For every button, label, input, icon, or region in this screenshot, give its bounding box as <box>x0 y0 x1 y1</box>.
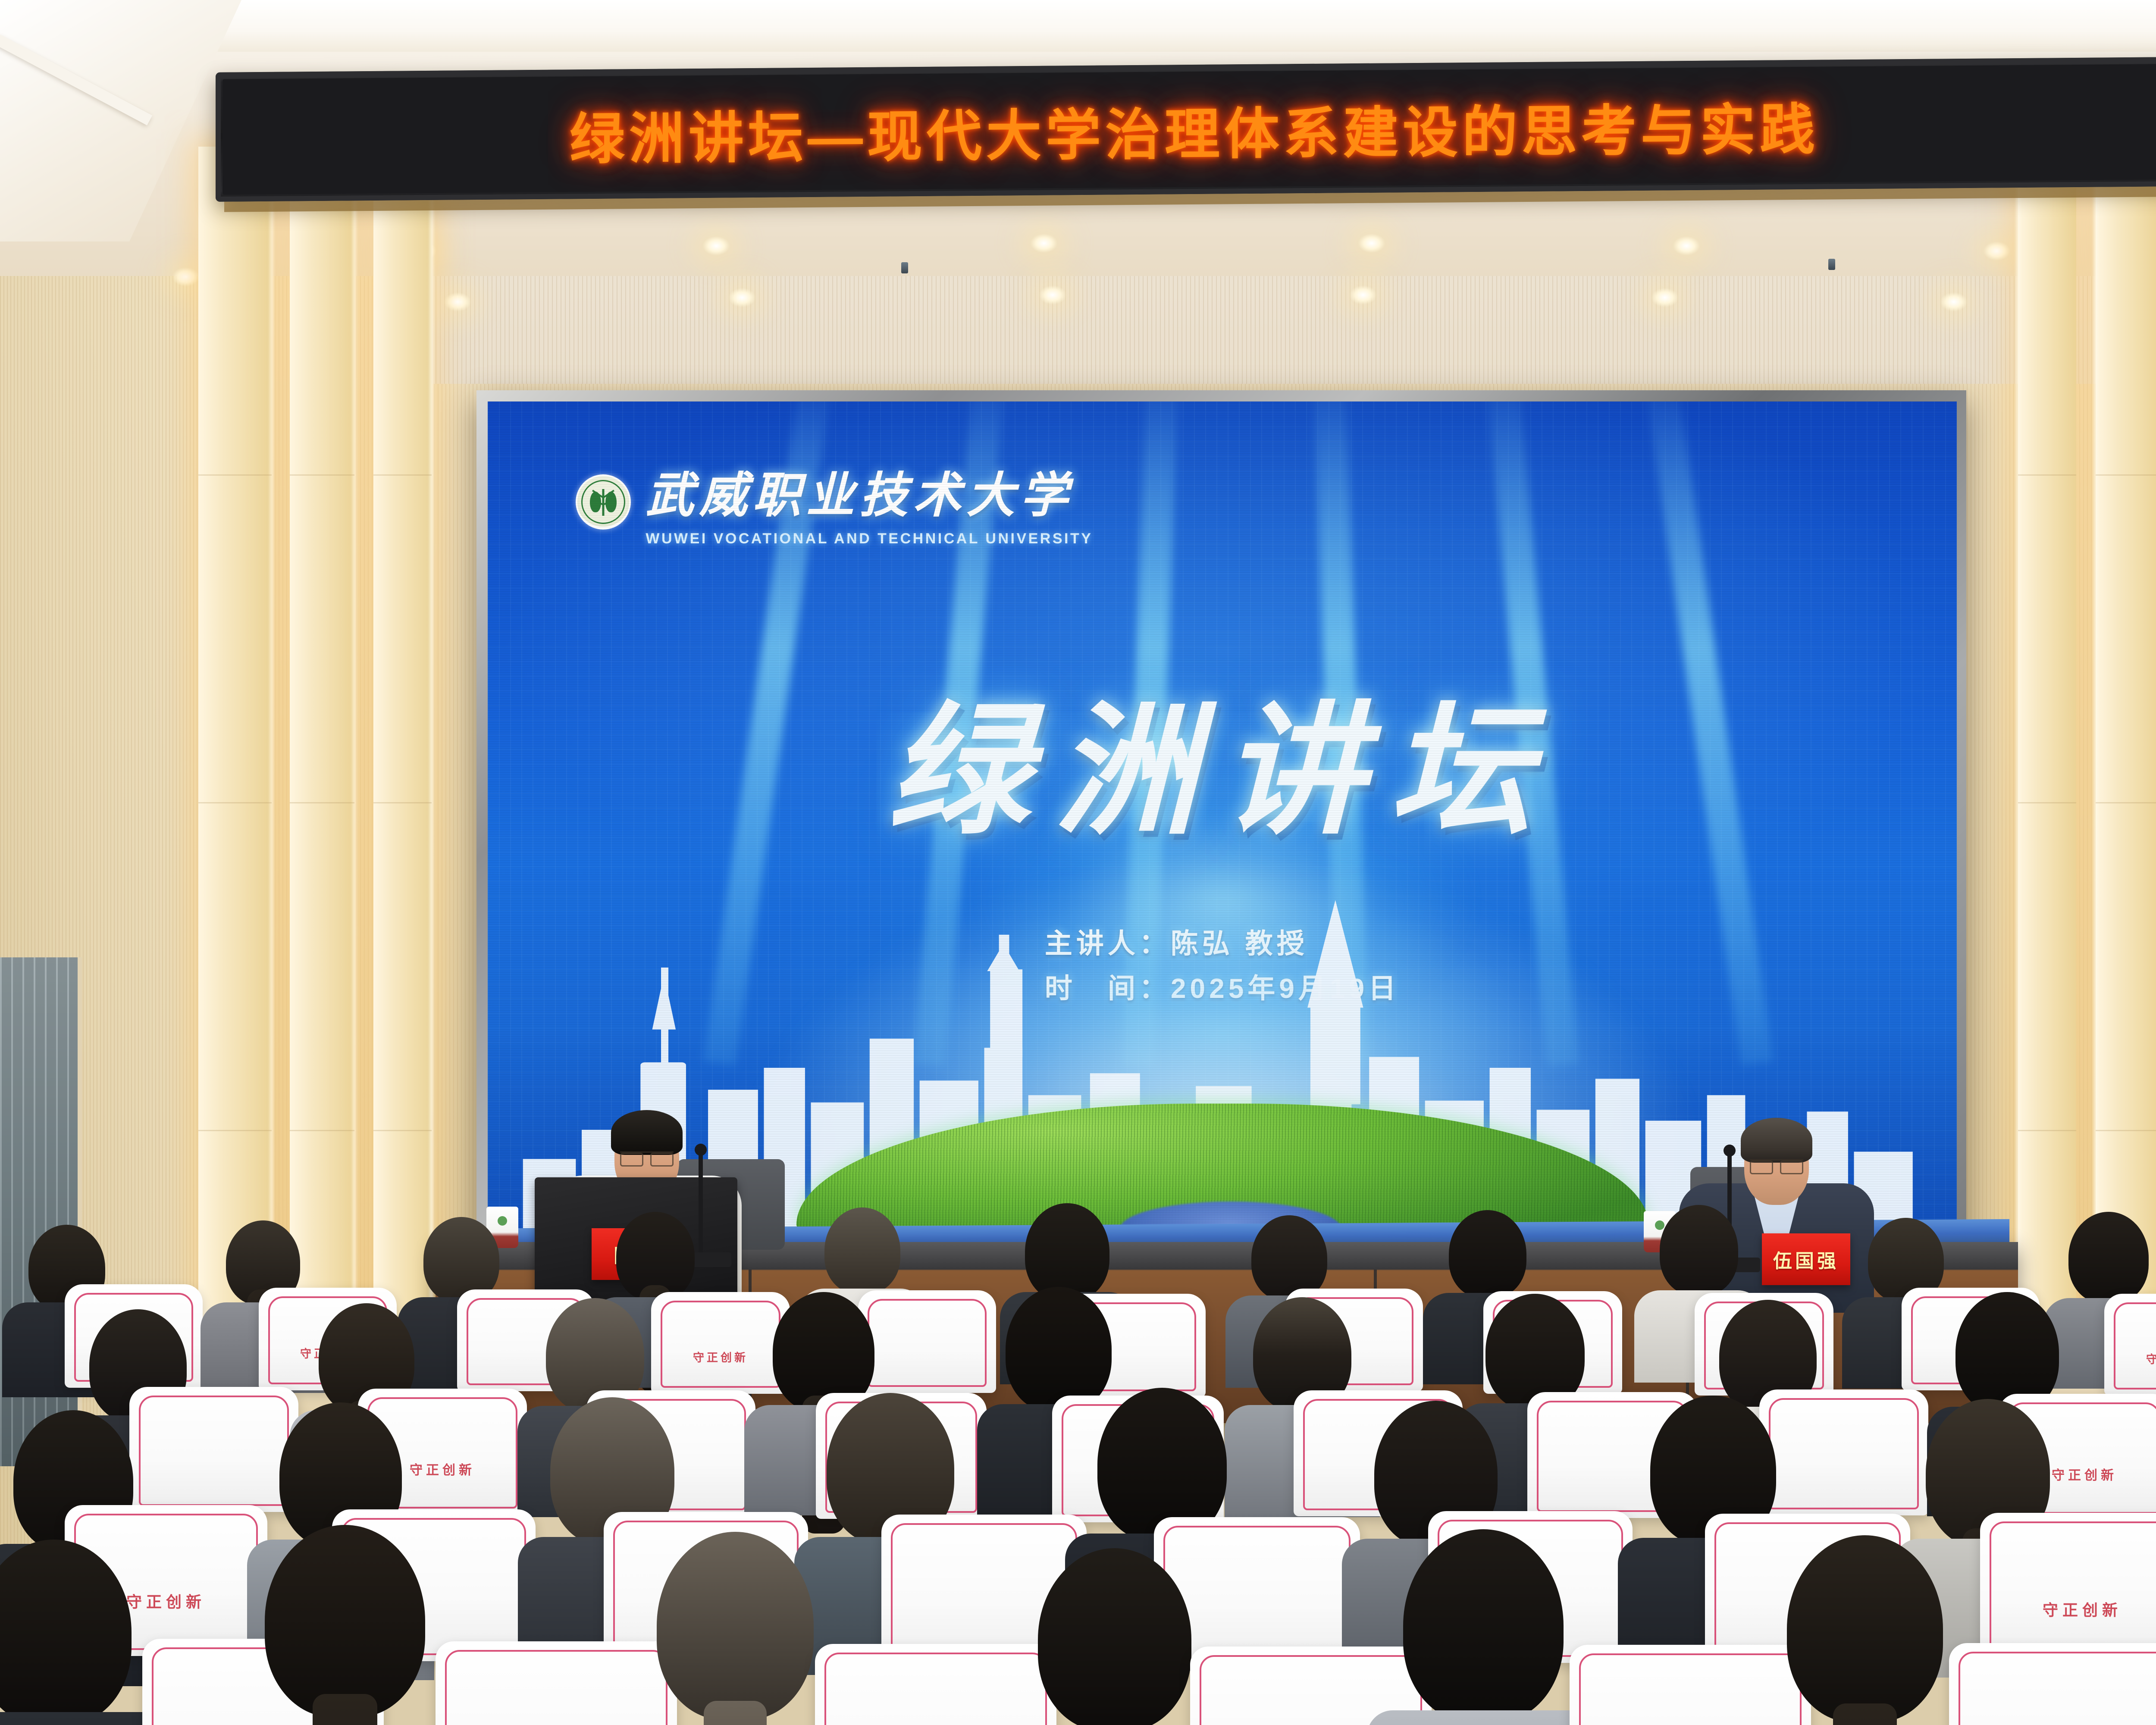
chair-motto: 守正创新 <box>126 1590 206 1612</box>
downlight <box>444 292 471 311</box>
eyeglasses-icon <box>620 1151 674 1163</box>
chair-motto: 守正创新 <box>2052 1465 2117 1483</box>
downlight <box>1350 285 1376 304</box>
sprinkler-head <box>901 262 908 273</box>
presenter-hair <box>1741 1118 1812 1163</box>
audience-chair <box>1759 1389 1928 1515</box>
audience-seating: 守正创新 守正创新 守正创新 <box>0 1207 2156 1725</box>
wall-light-column <box>2018 147 2076 1358</box>
wall-light-column <box>373 147 432 1358</box>
eyeglasses-icon <box>1750 1159 1803 1170</box>
audience-chair: 守正创新 <box>1980 1513 2156 1665</box>
led-banner-text: 绿洲讲坛—现代大学治理体系建设的思考与实践 <box>570 85 1819 174</box>
led-banner-panel: 绿洲讲坛—现代大学治理体系建设的思考与实践 <box>222 64 2156 194</box>
audience-chair <box>436 1641 677 1725</box>
chair-motto: 守正创新 <box>693 1349 748 1365</box>
ceiling-white-strip <box>0 0 2156 52</box>
audience-chair: 守正创新 <box>651 1292 790 1394</box>
downlight <box>1940 292 1967 311</box>
downlight <box>1031 234 1057 253</box>
presenter-hair <box>611 1110 683 1155</box>
downlight <box>1673 236 1700 255</box>
wall-light-column <box>198 147 272 1384</box>
wall-light-column <box>2096 147 2156 1371</box>
downlight <box>1651 288 1678 307</box>
chair-motto: 守正创新 <box>410 1459 475 1478</box>
audience-chair <box>815 1644 1056 1725</box>
sprinkler-head <box>1828 259 1835 270</box>
downlight <box>1039 285 1066 304</box>
university-logo-lockup: 武威职业技术大学 WUWEI VOCATIONAL AND TECHNICAL … <box>576 456 1093 547</box>
university-name-cn: 武威职业技术大学 <box>646 456 1093 526</box>
lecture-hall-photo: 绿洲讲坛—现代大学治理体系建设的思考与实践 <box>0 0 2156 1725</box>
downlight <box>1984 241 2010 260</box>
audience-chair <box>129 1387 298 1512</box>
downlight <box>729 288 755 307</box>
downlight <box>1358 234 1385 253</box>
chair-motto: 守正创新 <box>2043 1598 2122 1620</box>
wall-light-column <box>290 147 354 1371</box>
audience-chair <box>1949 1643 2156 1725</box>
audience-chair <box>1570 1645 1811 1725</box>
downlight <box>172 267 199 286</box>
university-name-en: WUWEI VOCATIONAL AND TECHNICAL UNIVERSIT… <box>646 530 1093 547</box>
forum-title: 绿洲讲坛 <box>888 655 1557 862</box>
chair-motto: 守正创新 <box>2146 1351 2156 1367</box>
downlight <box>703 236 730 255</box>
university-crest-icon <box>576 474 631 530</box>
audience-chair <box>858 1290 996 1393</box>
audience-chair: 守正创新 <box>2104 1294 2156 1396</box>
led-banner: 绿洲讲坛—现代大学治理体系建设的思考与实践 <box>216 57 2156 202</box>
